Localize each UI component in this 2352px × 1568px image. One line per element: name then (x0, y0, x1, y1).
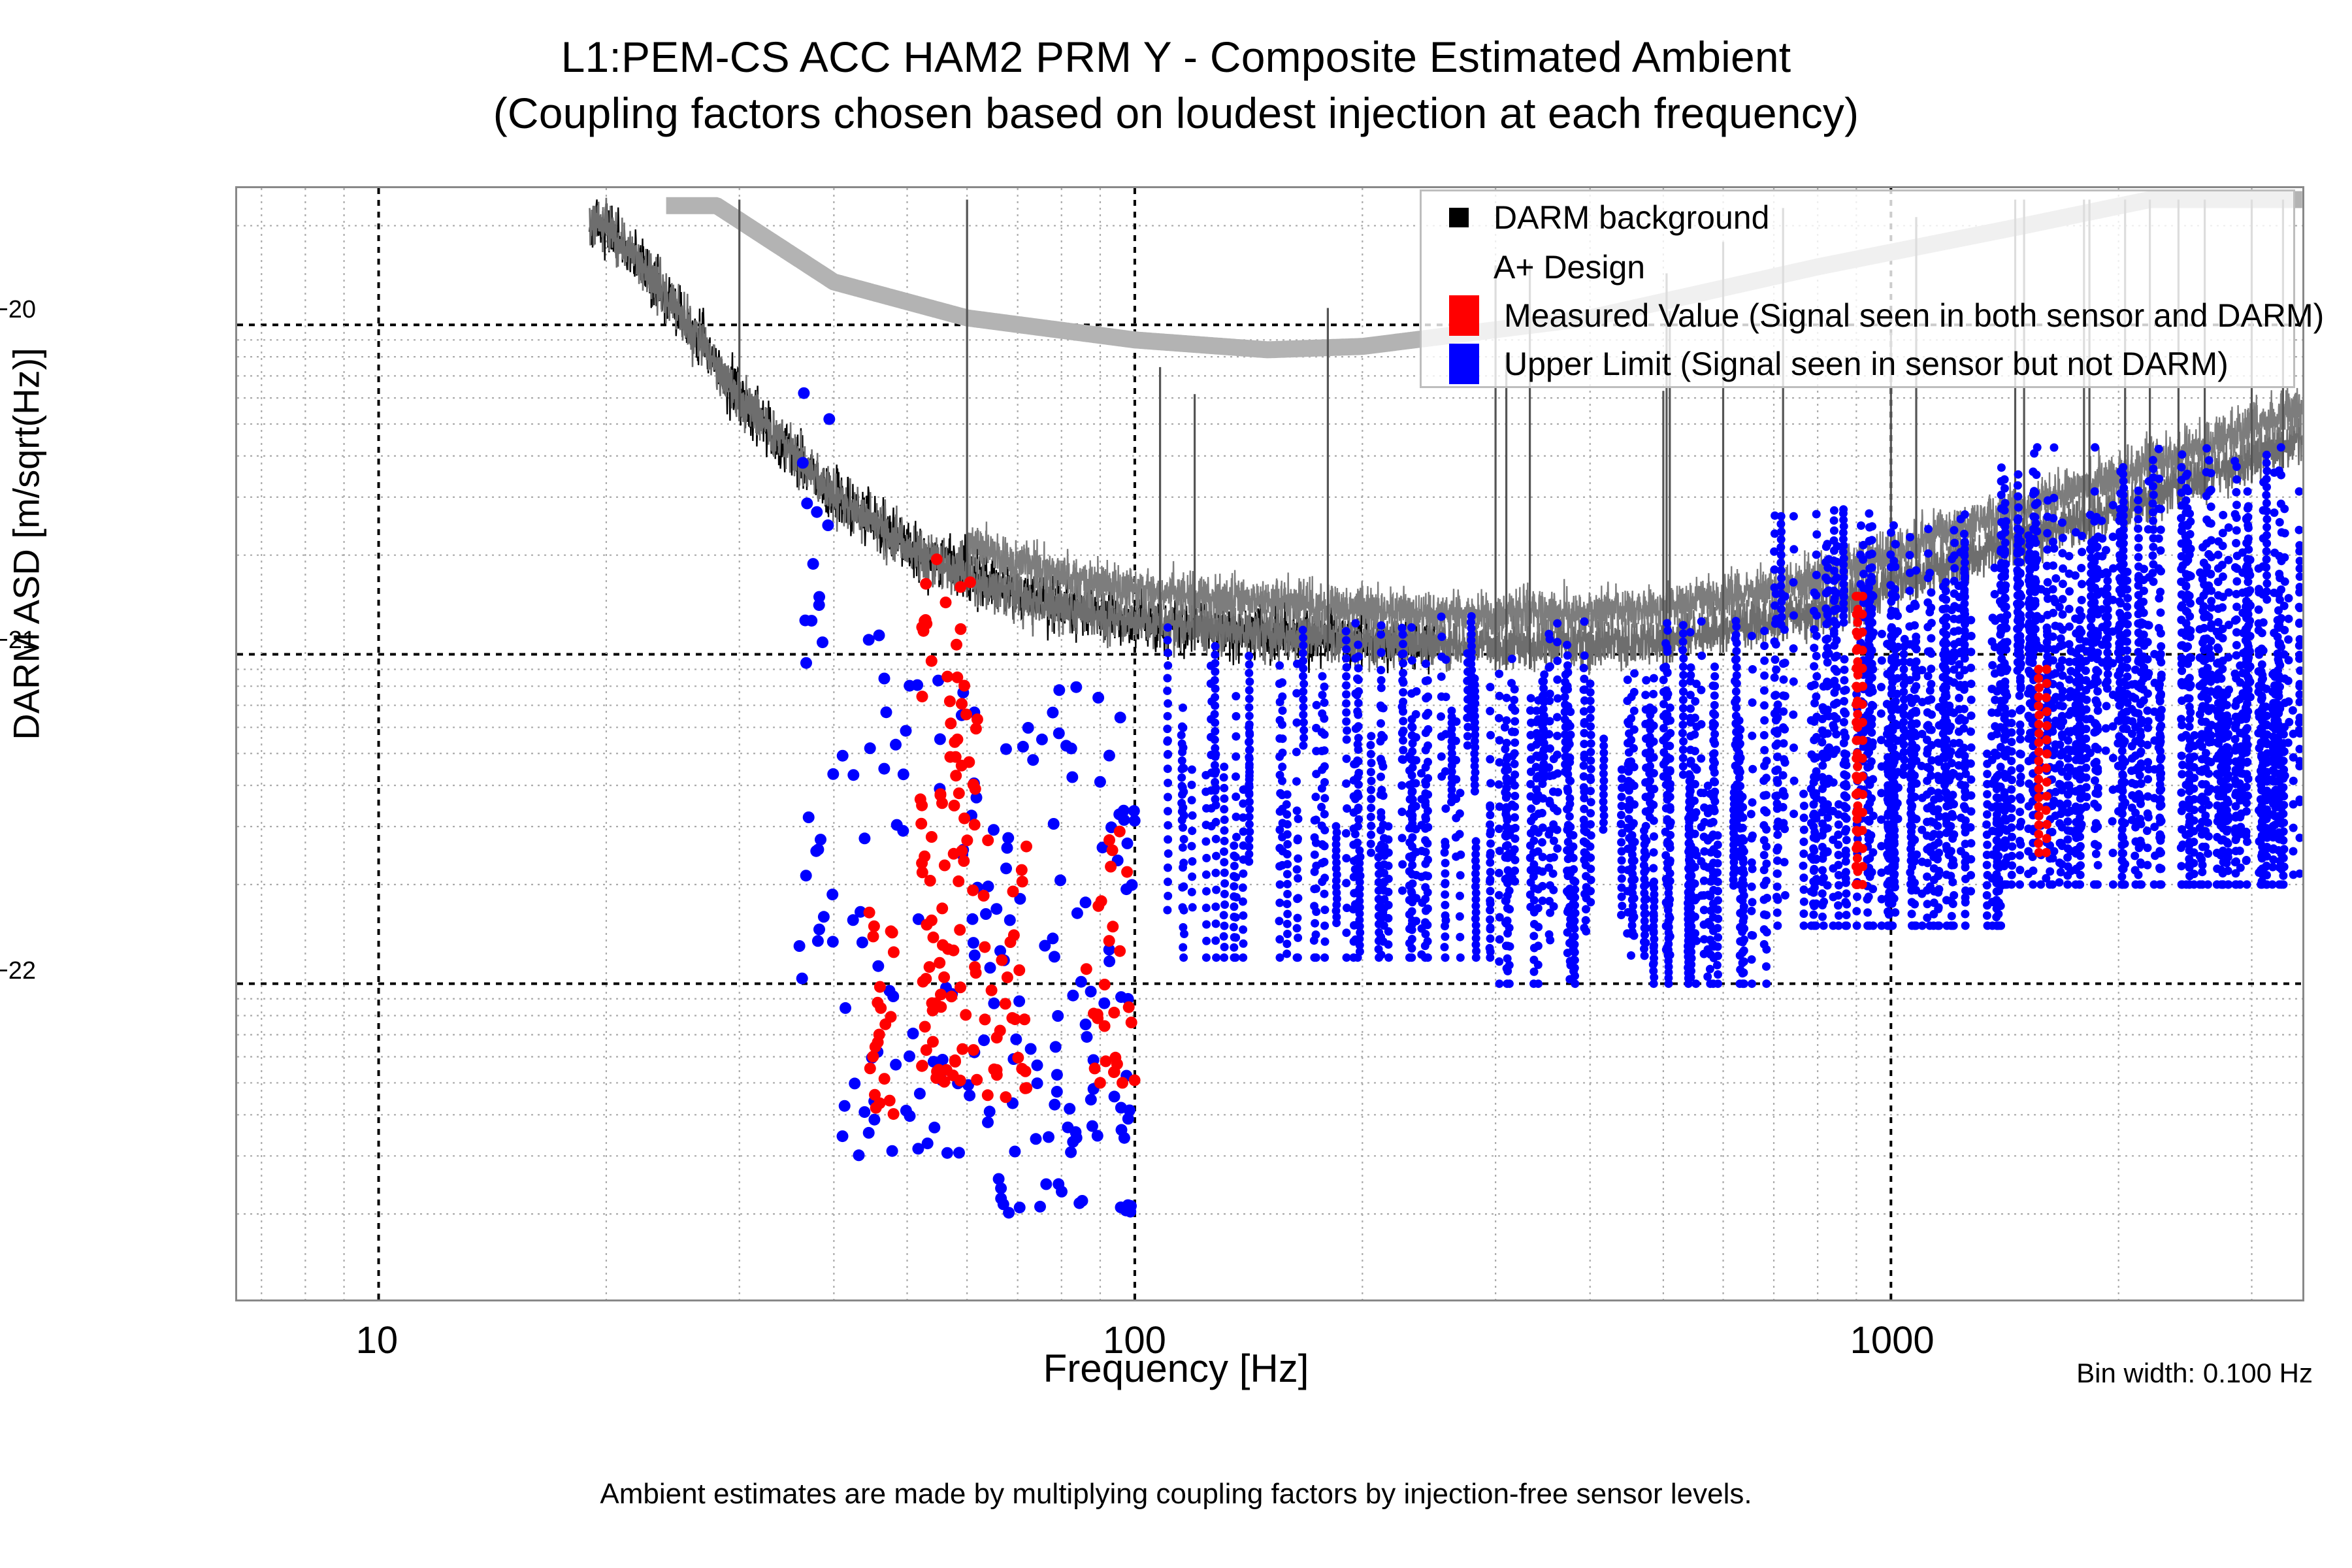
title-line-1: L1:PEM-CS ACC HAM2 PRM Y - Composite Est… (0, 29, 2352, 85)
footnote-text: Ambient estimates are made by multiplyin… (0, 1478, 2352, 1511)
y-axis-label: DARM ASD [m/sqrt(Hz)] (5, 152, 48, 936)
legend-label-aplus: A+ Design (1494, 248, 1645, 286)
aplus-swatch-icon (1449, 257, 1469, 277)
legend-label-darm: DARM background (1494, 199, 1769, 237)
legend-label-upperlimit: Upper Limit (Signal seen in sensor but n… (1504, 345, 2229, 383)
upperlimit-swatch-icon (1449, 344, 1479, 384)
legend-box: DARM background A+ Design Measured Value… (1420, 189, 2295, 388)
y-tick-label: 10−21 (0, 627, 36, 670)
measured-swatch-icon (1449, 295, 1479, 336)
legend-item-measured-value: Measured Value (Signal seen in both sens… (1422, 291, 2293, 340)
darm-swatch-icon (1449, 208, 1469, 227)
x-axis-label: Frequency [Hz] (0, 1346, 2352, 1391)
title-line-2: (Coupling factors chosen based on loudes… (0, 85, 2352, 141)
legend-item-aplus-design: A+ Design (1422, 242, 2293, 292)
legend-label-measured: Measured Value (Signal seen in both sens… (1504, 297, 2324, 335)
figure-root: L1:PEM-CS ACC HAM2 PRM Y - Composite Est… (0, 0, 2352, 1568)
y-tick-label: 10−22 (0, 957, 36, 1001)
figure-title: L1:PEM-CS ACC HAM2 PRM Y - Composite Est… (0, 29, 2352, 141)
y-tick-label: 10−20 (0, 296, 36, 340)
legend-item-darm-background: DARM background (1422, 193, 2293, 242)
legend-item-upper-limit: Upper Limit (Signal seen in sensor but n… (1422, 339, 2293, 389)
bin-width-annotation: Bin width: 0.100 Hz (2076, 1358, 2313, 1389)
